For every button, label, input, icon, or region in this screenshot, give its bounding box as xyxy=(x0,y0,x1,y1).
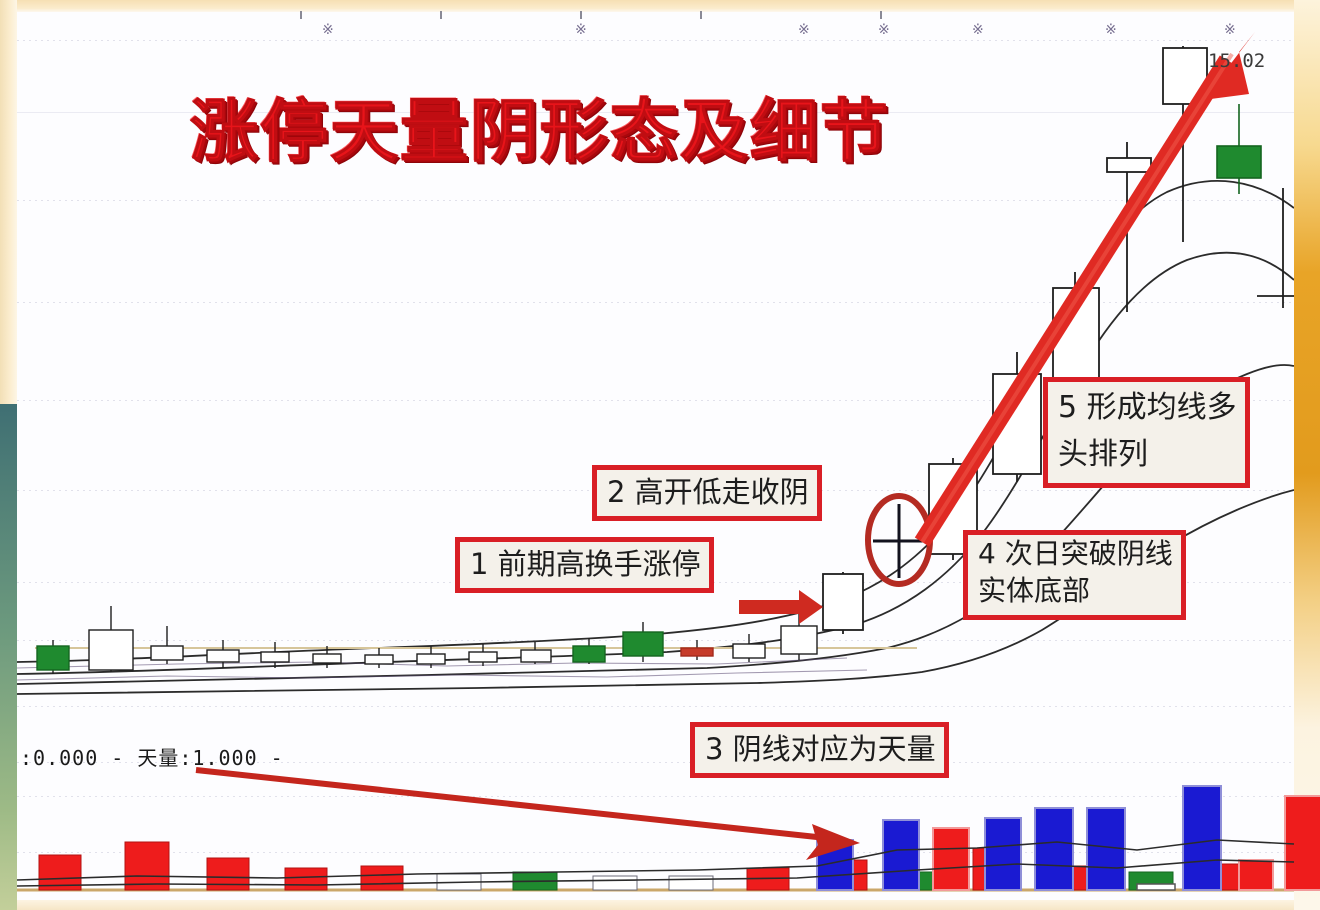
price-tag-label: 15.02 xyxy=(1208,50,1265,72)
annotation-callout-4[interactable]: 4 次日突破阴线 实体底部 xyxy=(963,530,1186,620)
top-tick xyxy=(700,11,702,19)
volume-readout-label: :0.000 - 天量:1.000 - xyxy=(20,742,284,771)
top-mark: ※ xyxy=(798,22,810,38)
annotation-callout-5[interactable]: 5 形成均线多 头排列 xyxy=(1043,377,1250,488)
annotation-callout-3[interactable]: 3 阴线对应为天量 xyxy=(690,722,949,778)
top-tick xyxy=(880,11,882,19)
top-tick xyxy=(440,11,442,19)
top-tick xyxy=(300,11,302,19)
top-mark: ※ xyxy=(322,22,334,38)
page-title: 涨停天量阴形态及细节 xyxy=(190,76,890,175)
screenshot-root: 涨停天量阴形态及细节 15.02 :0.000 - 天量:1.000 - 1 前… xyxy=(0,0,1320,910)
top-mark: ※ xyxy=(1105,22,1117,38)
top-mark: ※ xyxy=(878,22,890,38)
top-tick xyxy=(580,11,582,19)
annotation-callout-2[interactable]: 2 高开低走收阴 xyxy=(592,465,822,521)
top-mark: ※ xyxy=(972,22,984,38)
top-mark: ※ xyxy=(575,22,587,38)
top-mark: ※ xyxy=(1224,22,1236,38)
annotation-callout-1[interactable]: 1 前期高换手涨停 xyxy=(455,537,714,593)
